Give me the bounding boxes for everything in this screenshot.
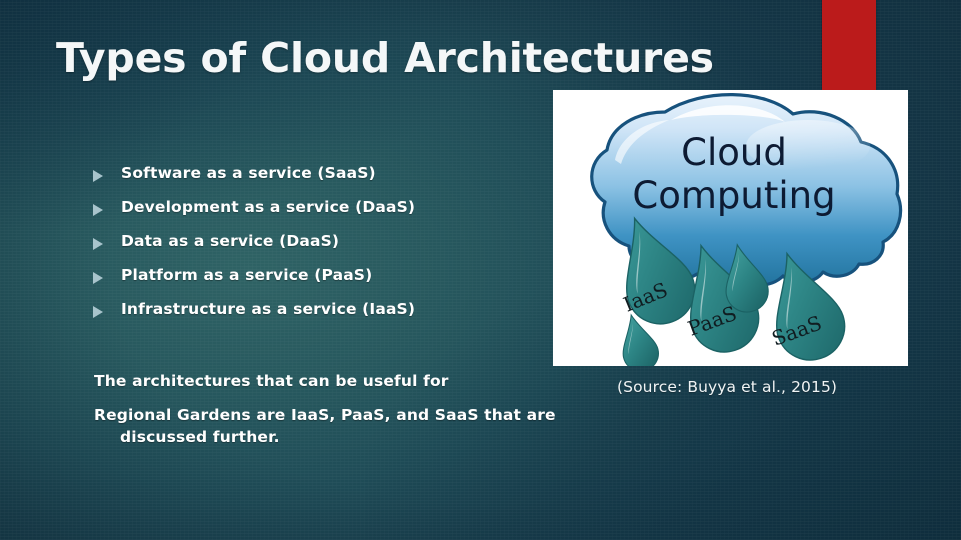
list-item[interactable]: Infrastructure as a service (IaaS) — [92, 299, 547, 333]
list-item[interactable]: Development as a service (DaaS) — [92, 197, 547, 231]
list-item[interactable]: Data as a service (DaaS) — [92, 231, 547, 265]
paragraph-line-2: Regional Gardens are IaaS, PaaS, and Saa… — [94, 404, 694, 448]
triangle-right-icon — [92, 169, 104, 183]
list-item-label: Data as a service (DaaS) — [121, 231, 339, 251]
cloud-computing-illustration: Cloud Computing IaaS — [553, 90, 908, 366]
triangle-right-icon — [92, 305, 104, 319]
list-item-label: Development as a service (DaaS) — [121, 197, 415, 217]
paragraph-line-1: The architectures that can be useful for — [94, 371, 694, 391]
cloud-computing-image: Cloud Computing IaaS — [553, 90, 908, 366]
list-item[interactable]: Platform as a service (PaaS) — [92, 265, 547, 299]
cloud-label-line-1: Cloud — [681, 131, 787, 174]
triangle-right-icon — [92, 271, 104, 285]
list-item[interactable]: Software as a service (SaaS) — [92, 163, 547, 197]
paragraph-line-2-part-1: Regional Gardens are IaaS, PaaS, and Saa… — [94, 406, 556, 424]
slide: Types of Cloud Architectures Software as… — [0, 0, 961, 540]
paragraph-line-2-part-2: discussed further. — [94, 426, 694, 448]
triangle-right-icon — [92, 237, 104, 251]
red-accent-bar — [822, 0, 876, 90]
triangle-right-icon — [92, 203, 104, 217]
list-item-label: Platform as a service (PaaS) — [121, 265, 372, 285]
list-item-label: Infrastructure as a service (IaaS) — [121, 299, 415, 319]
body-paragraph: The architectures that can be useful for… — [94, 371, 694, 448]
cloud-label-line-2: Computing — [632, 174, 835, 217]
bullet-list: Software as a service (SaaS) Development… — [92, 163, 547, 333]
page-title: Types of Cloud Architectures — [56, 33, 816, 83]
source-caption: (Source: Buyya et al., 2015) — [617, 378, 837, 396]
list-item-label: Software as a service (SaaS) — [121, 163, 376, 183]
